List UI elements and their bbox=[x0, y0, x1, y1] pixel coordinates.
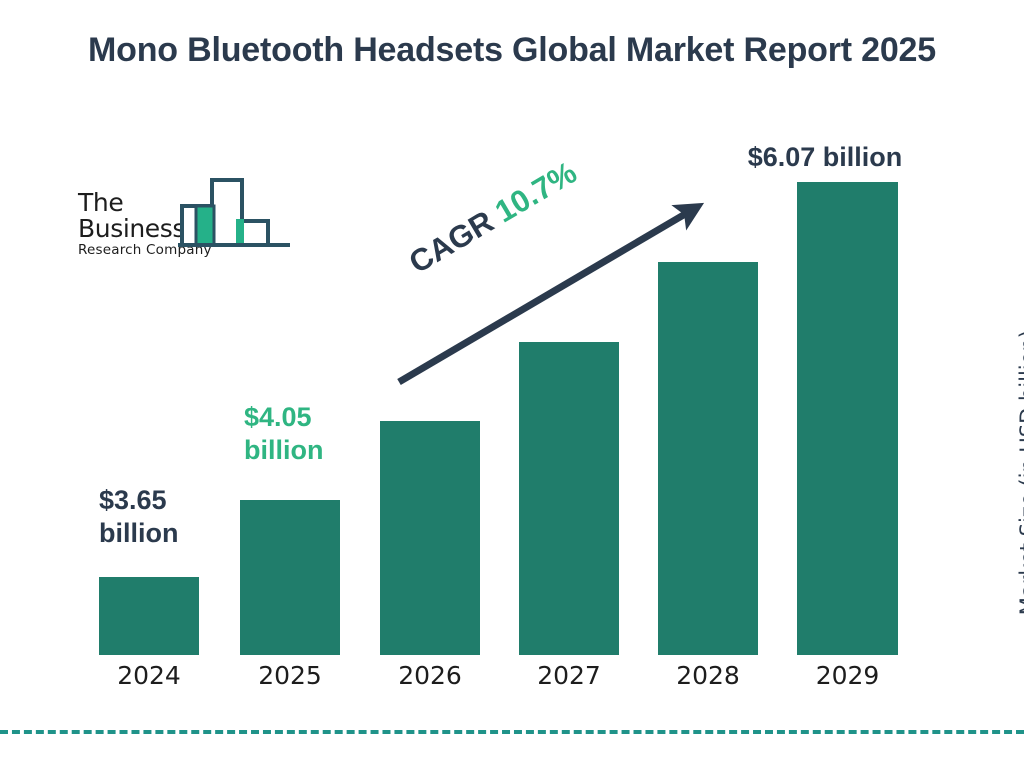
value-label-2029: $6.07 billion bbox=[700, 141, 950, 174]
bar-2029 bbox=[797, 182, 898, 655]
x-tick-2025: 2025 bbox=[240, 661, 340, 690]
plot-area: 2024 2025 2026 2027 2028 2029 bbox=[0, 0, 1024, 768]
x-tick-2028: 2028 bbox=[658, 661, 758, 690]
bar-2024 bbox=[99, 577, 199, 655]
value-label-2024: $3.65 billion bbox=[99, 484, 229, 550]
bar-2026 bbox=[380, 421, 480, 655]
bar-2027 bbox=[519, 342, 619, 655]
x-tick-2026: 2026 bbox=[380, 661, 480, 690]
bar-2025 bbox=[240, 500, 340, 655]
y-axis-title: Market Size (in USD billion) bbox=[1016, 330, 1024, 615]
chart-canvas: Mono Bluetooth Headsets Global Market Re… bbox=[0, 0, 1024, 768]
x-tick-2024: 2024 bbox=[99, 661, 199, 690]
footer-divider bbox=[0, 730, 1024, 734]
x-tick-2029: 2029 bbox=[797, 661, 898, 690]
x-tick-2027: 2027 bbox=[519, 661, 619, 690]
value-label-2025: $4.05 billion bbox=[244, 401, 384, 467]
bar-2028 bbox=[658, 262, 758, 655]
